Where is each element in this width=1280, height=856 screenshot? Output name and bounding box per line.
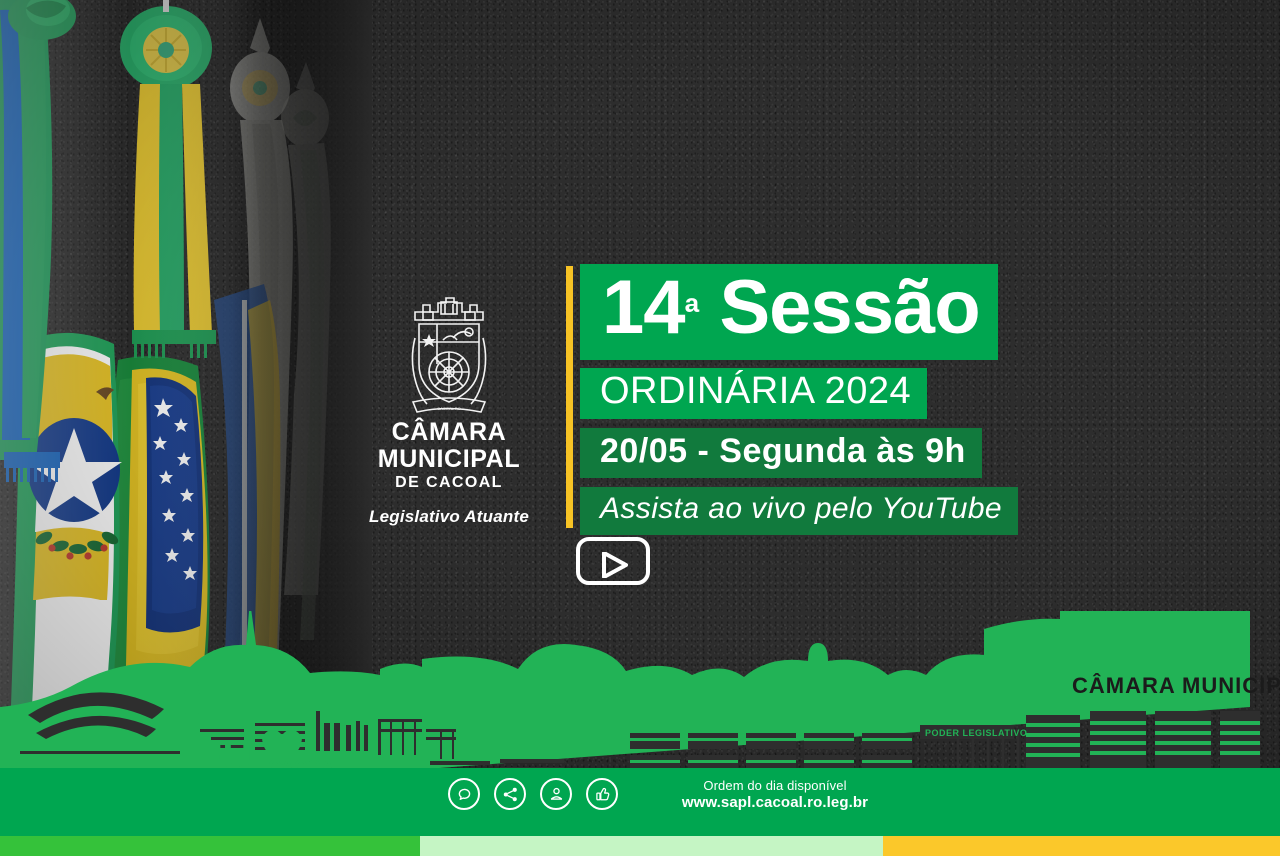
session-type-banner: ORDINÁRIA 2024 xyxy=(580,368,927,419)
bottom-bar-segment-light-green xyxy=(420,836,883,856)
footer-bar: Ordem do dia disponível www.sapl.cacoal.… xyxy=(0,768,1280,836)
bottom-bar-segment-yellow xyxy=(883,836,1280,856)
play-triangle-icon xyxy=(602,552,628,578)
session-announcement-poster: CACOAL RO CÂMARA MUNICIPAL DE CACOAL Leg… xyxy=(0,0,1280,856)
logo-tagline: Legislativo Atuante xyxy=(356,507,542,527)
watch-live-text: Assista ao vivo pelo YouTube xyxy=(600,492,1002,525)
session-ordinal: ª xyxy=(685,292,700,336)
session-datetime-banner: 20/05 - Segunda às 9h xyxy=(580,428,982,478)
logo-line-municipal: MUNICIPAL xyxy=(356,447,542,472)
headline-banners: 14ª Sessão ORDINÁRIA 2024 20/05 - Segund… xyxy=(580,264,1018,535)
social-actions xyxy=(448,778,618,810)
session-number: 14 xyxy=(602,265,685,350)
comment-icon[interactable] xyxy=(448,778,480,810)
bottom-bar-segment-green xyxy=(0,836,420,856)
building-sign-camara-municipal: CÂMARA MUNICIPAL xyxy=(1072,673,1280,698)
bottom-color-bar xyxy=(0,836,1280,856)
play-icon[interactable] xyxy=(576,537,650,585)
logo-line-camara: CÂMARA xyxy=(356,420,542,445)
svg-text:CACOAL RO: CACOAL RO xyxy=(437,406,460,411)
share-icon[interactable] xyxy=(494,778,526,810)
footer-info: Ordem do dia disponível www.sapl.cacoal.… xyxy=(640,778,910,812)
footer-info-url[interactable]: www.sapl.cacoal.ro.leg.br xyxy=(640,794,910,812)
camara-logo-block: CACOAL RO CÂMARA MUNICIPAL DE CACOAL Leg… xyxy=(356,294,542,527)
follow-person-icon[interactable] xyxy=(540,778,572,810)
session-datetime: 20/05 - Segunda às 9h xyxy=(600,432,966,470)
thumbs-up-icon[interactable] xyxy=(586,778,618,810)
logo-line-city: DE CACOAL xyxy=(356,474,542,492)
annex-sign-poder-legislativo: PODER LEGISLATIVO xyxy=(925,728,1027,738)
yellow-accent-line xyxy=(566,266,573,528)
session-number-banner: 14ª Sessão xyxy=(580,264,998,360)
coat-of-arms-icon: CACOAL RO xyxy=(397,294,501,418)
session-word: Sessão xyxy=(699,265,979,350)
watch-live-banner: Assista ao vivo pelo YouTube xyxy=(580,487,1018,535)
footer-info-line1: Ordem do dia disponível xyxy=(640,778,910,794)
session-type-year: ORDINÁRIA 2024 xyxy=(600,370,911,412)
